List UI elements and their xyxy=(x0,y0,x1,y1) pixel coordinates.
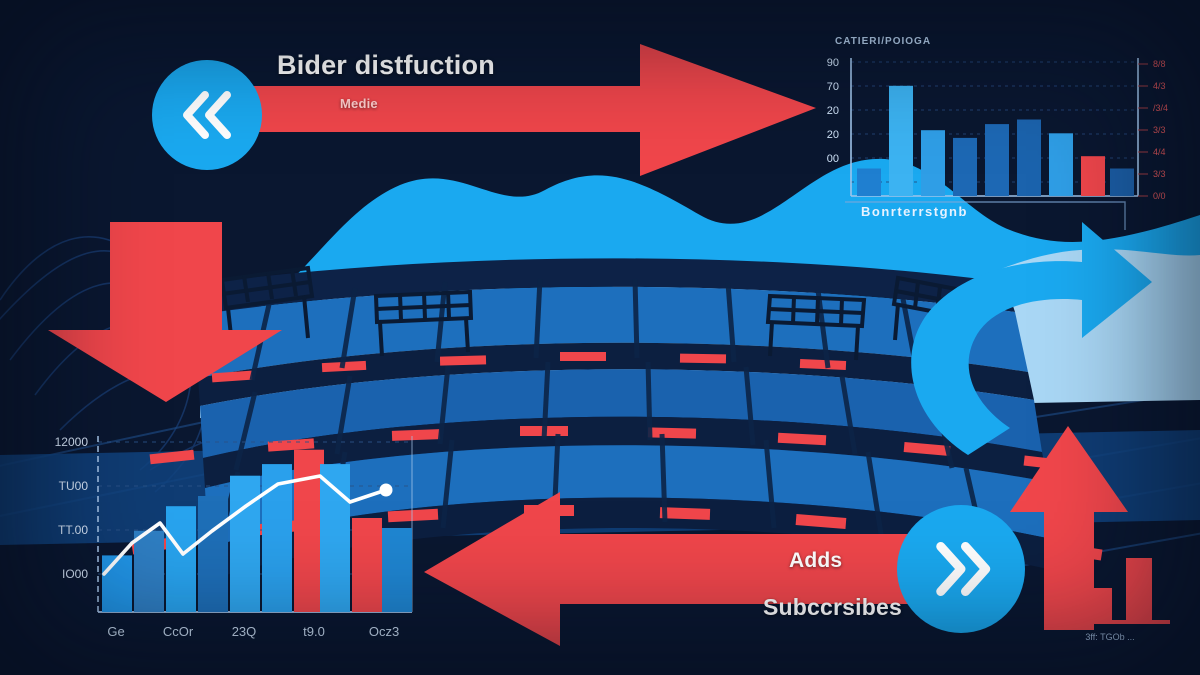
svg-text:70: 70 xyxy=(827,81,839,93)
bar xyxy=(102,555,132,612)
bar xyxy=(889,86,913,196)
chart-top-right-subtitle: Bonrterrstgnb xyxy=(861,204,968,219)
svg-text:3/3: 3/3 xyxy=(1153,169,1166,179)
chart-top-right: CATIERI/POIOGA 90 70 20 20 00 xyxy=(805,24,1185,224)
trend-line-endpoint xyxy=(380,484,393,497)
double-chevron-left-icon xyxy=(177,91,237,139)
chart-top-right-yticks-left: 90 70 20 20 00 xyxy=(827,57,839,165)
bar xyxy=(198,496,228,612)
double-chevron-left-badge[interactable] xyxy=(152,60,262,170)
chart-bottom-left: 12000 TU00 TT.00 IO00 Ge CcOr 23Q t9.0 xyxy=(20,418,440,658)
svg-text:4/4: 4/4 xyxy=(1153,147,1166,157)
bar xyxy=(230,476,260,612)
bar xyxy=(382,528,412,612)
double-chevron-right-icon xyxy=(927,542,995,596)
bar xyxy=(166,506,196,612)
svg-text:0/0: 0/0 xyxy=(1153,191,1166,201)
bar xyxy=(857,169,881,197)
chart-top-right-subtitle-wrap: Bonrterrstgnb xyxy=(845,196,1145,232)
bar xyxy=(1081,156,1105,196)
svg-text:8/8: 8/8 xyxy=(1153,59,1166,69)
svg-text:12000: 12000 xyxy=(55,435,89,449)
svg-text:IO00: IO00 xyxy=(62,567,88,581)
svg-text:Ge: Ge xyxy=(107,624,124,639)
arrow-left-bottom xyxy=(424,492,940,646)
svg-text:4/3: 4/3 xyxy=(1153,81,1166,91)
chart-top-right-title: CATIERI/POIOGA xyxy=(835,36,931,47)
subscribers-label: Subccrsibes xyxy=(763,594,902,621)
svg-text:Ocz3: Ocz3 xyxy=(369,624,399,639)
media-label: Medie xyxy=(340,96,378,111)
chart-top-right-yticks-right: 8/8 4/3 /3/4 3/3 4/4 3/3 0/0 xyxy=(1138,59,1168,201)
chart-bottom-left-xticks: Ge CcOr 23Q t9.0 Ocz3 xyxy=(107,624,399,639)
chart-bottom-right-caption: 3ff: TGOb ... xyxy=(1085,632,1134,642)
svg-text:/3/4: /3/4 xyxy=(1153,103,1168,113)
infographic-canvas: CATIERI/POIOGA 90 70 20 20 00 xyxy=(0,0,1200,675)
bar xyxy=(1126,558,1152,622)
chart-top-right-bars xyxy=(857,86,1134,196)
bar xyxy=(352,518,382,612)
double-chevron-right-badge[interactable] xyxy=(897,505,1025,633)
svg-text:90: 90 xyxy=(827,57,839,69)
bar xyxy=(320,464,350,612)
bar xyxy=(294,450,324,612)
svg-text:20: 20 xyxy=(827,105,839,117)
chart-bottom-right: 3ff: TGOb ... xyxy=(1050,520,1200,660)
svg-text:t9.0: t9.0 xyxy=(303,624,325,639)
svg-text:TT.00: TT.00 xyxy=(58,523,88,537)
page-title: Bider distfuction xyxy=(277,50,495,81)
svg-text:20: 20 xyxy=(827,129,839,141)
svg-text:3/3: 3/3 xyxy=(1153,125,1166,135)
bar xyxy=(985,124,1009,196)
bar xyxy=(1017,120,1041,197)
bar xyxy=(1110,169,1134,197)
bar xyxy=(1049,133,1073,196)
bar xyxy=(134,531,164,612)
svg-text:CcOr: CcOr xyxy=(163,624,194,639)
bar xyxy=(921,130,945,196)
bar xyxy=(1086,588,1112,622)
adds-label: Adds xyxy=(789,549,842,573)
chart-bottom-left-yticks: 12000 TU00 TT.00 IO00 xyxy=(55,435,89,581)
svg-text:00: 00 xyxy=(827,153,839,165)
bar xyxy=(953,138,977,196)
svg-text:TU00: TU00 xyxy=(59,479,89,493)
svg-text:23Q: 23Q xyxy=(232,624,257,639)
arrow-down-left xyxy=(48,222,282,402)
